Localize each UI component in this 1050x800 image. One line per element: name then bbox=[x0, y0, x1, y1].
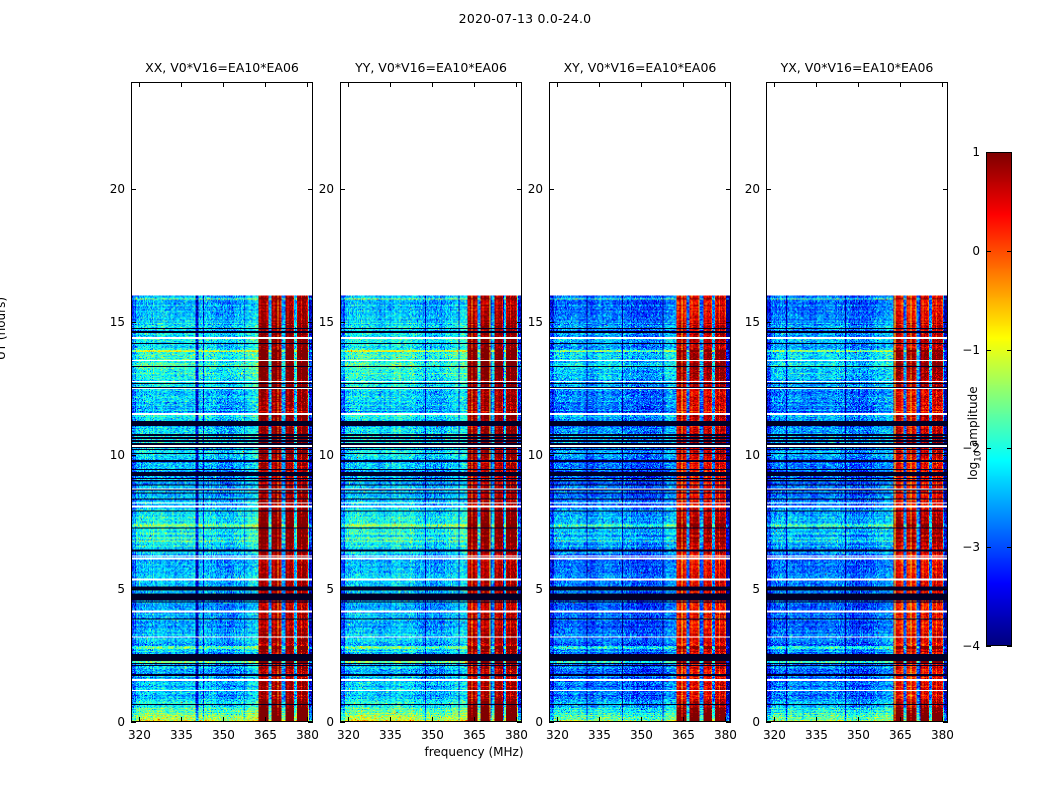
x-tick-label: 380 bbox=[496, 728, 536, 742]
y-tick-mark bbox=[340, 322, 345, 323]
x-tick-mark bbox=[942, 717, 943, 722]
x-tick-mark bbox=[139, 717, 140, 722]
x-tick-label: 320 bbox=[328, 728, 368, 742]
y-tick-label: 20 bbox=[304, 182, 334, 196]
figure-canvas: 2020-07-13 0.0-24.0 XX, V0*V16=EA10*EA06… bbox=[0, 0, 1050, 800]
x-tick-label: 335 bbox=[161, 728, 201, 742]
colorbar-tick-mark bbox=[986, 646, 991, 647]
y-tick-label: 0 bbox=[95, 715, 125, 729]
panel-yx[interactable] bbox=[766, 82, 948, 722]
x-tick-mark bbox=[432, 717, 433, 722]
colorbar-tick-mark bbox=[1007, 448, 1012, 449]
x-tick-mark bbox=[181, 82, 182, 87]
y-tick-mark bbox=[943, 455, 948, 456]
x-tick-label: 335 bbox=[370, 728, 410, 742]
x-tick-label: 365 bbox=[663, 728, 703, 742]
colorbar-tick-mark bbox=[986, 448, 991, 449]
y-tick-label: 5 bbox=[730, 582, 760, 596]
y-tick-mark bbox=[131, 722, 136, 723]
x-tick-mark bbox=[223, 82, 224, 87]
y-tick-label: 0 bbox=[730, 715, 760, 729]
colorbar-label: log10 amplitude bbox=[966, 386, 983, 480]
colorbar-tick-mark bbox=[986, 152, 991, 153]
x-tick-mark bbox=[942, 82, 943, 87]
x-tick-label: 335 bbox=[796, 728, 836, 742]
y-tick-mark bbox=[549, 455, 554, 456]
x-tick-label: 350 bbox=[412, 728, 452, 742]
figure-suptitle: 2020-07-13 0.0-24.0 bbox=[0, 11, 1050, 26]
x-tick-mark bbox=[432, 82, 433, 87]
x-tick-mark bbox=[683, 717, 684, 722]
y-tick-label: 10 bbox=[95, 448, 125, 462]
x-tick-label: 380 bbox=[287, 728, 327, 742]
y-tick-mark bbox=[766, 322, 771, 323]
x-tick-label: 365 bbox=[245, 728, 285, 742]
colorbar[interactable] bbox=[986, 152, 1012, 646]
y-tick-mark bbox=[943, 322, 948, 323]
y-tick-mark bbox=[131, 589, 136, 590]
x-tick-mark bbox=[641, 717, 642, 722]
y-tick-mark bbox=[340, 455, 345, 456]
colorbar-tick-mark bbox=[1007, 547, 1012, 548]
colorbar-tick-label: −1 bbox=[946, 343, 980, 357]
y-tick-mark bbox=[340, 189, 345, 190]
panel-title-xx: XX, V0*V16=EA10*EA06 bbox=[131, 60, 313, 76]
y-tick-label: 5 bbox=[95, 582, 125, 596]
x-tick-mark bbox=[816, 82, 817, 87]
x-tick-label: 320 bbox=[119, 728, 159, 742]
x-tick-label: 365 bbox=[454, 728, 494, 742]
x-tick-mark bbox=[390, 82, 391, 87]
panel-title-yy: YY, V0*V16=EA10*EA06 bbox=[340, 60, 522, 76]
y-tick-label: 10 bbox=[304, 448, 334, 462]
colorbar-tick-mark bbox=[1007, 646, 1012, 647]
y-tick-label: 20 bbox=[513, 182, 543, 196]
y-tick-mark bbox=[766, 455, 771, 456]
x-tick-label: 350 bbox=[621, 728, 661, 742]
x-tick-label: 320 bbox=[754, 728, 794, 742]
x-tick-mark bbox=[474, 717, 475, 722]
x-tick-mark bbox=[516, 82, 517, 87]
x-tick-label: 380 bbox=[705, 728, 745, 742]
x-tick-label: 380 bbox=[922, 728, 962, 742]
y-tick-label: 15 bbox=[513, 315, 543, 329]
panel-yy[interactable] bbox=[340, 82, 522, 722]
x-tick-label: 350 bbox=[838, 728, 878, 742]
waterfall-image-xx bbox=[132, 83, 312, 721]
x-tick-label: 350 bbox=[203, 728, 243, 742]
colorbar-tick-mark bbox=[986, 350, 991, 351]
y-tick-mark bbox=[549, 722, 554, 723]
y-tick-mark bbox=[943, 722, 948, 723]
colorbar-tick-mark bbox=[986, 547, 991, 548]
y-tick-mark bbox=[549, 589, 554, 590]
y-tick-label: 15 bbox=[304, 315, 334, 329]
x-tick-mark bbox=[599, 717, 600, 722]
y-tick-mark bbox=[340, 722, 345, 723]
x-tick-mark bbox=[900, 717, 901, 722]
y-tick-label: 20 bbox=[730, 182, 760, 196]
x-tick-mark bbox=[139, 82, 140, 87]
y-tick-mark bbox=[943, 189, 948, 190]
colorbar-tick-mark bbox=[1007, 350, 1012, 351]
x-tick-mark bbox=[474, 82, 475, 87]
y-tick-label: 5 bbox=[513, 582, 543, 596]
x-tick-mark bbox=[858, 82, 859, 87]
colorbar-tick-label: 1 bbox=[946, 145, 980, 159]
y-tick-label: 10 bbox=[513, 448, 543, 462]
colorbar-tick-mark bbox=[1007, 251, 1012, 252]
colorbar-tick-mark bbox=[986, 251, 991, 252]
y-tick-mark bbox=[340, 589, 345, 590]
x-tick-mark bbox=[348, 717, 349, 722]
y-tick-label: 20 bbox=[95, 182, 125, 196]
x-tick-mark bbox=[307, 82, 308, 87]
x-tick-mark bbox=[641, 82, 642, 87]
x-tick-mark bbox=[557, 717, 558, 722]
y-tick-label: 15 bbox=[730, 315, 760, 329]
x-tick-mark bbox=[774, 82, 775, 87]
y-axis-label: UT (hours) bbox=[0, 297, 8, 360]
y-tick-mark bbox=[131, 189, 136, 190]
panel-xy[interactable] bbox=[549, 82, 731, 722]
panel-xx[interactable] bbox=[131, 82, 313, 722]
x-tick-mark bbox=[265, 717, 266, 722]
y-tick-mark bbox=[766, 722, 771, 723]
y-tick-label: 10 bbox=[730, 448, 760, 462]
x-tick-mark bbox=[181, 717, 182, 722]
y-tick-mark bbox=[766, 189, 771, 190]
x-tick-label: 335 bbox=[579, 728, 619, 742]
colorbar-tick-mark bbox=[1007, 152, 1012, 153]
y-tick-label: 0 bbox=[513, 715, 543, 729]
x-tick-mark bbox=[599, 82, 600, 87]
x-tick-mark bbox=[390, 717, 391, 722]
x-tick-mark bbox=[557, 82, 558, 87]
x-tick-mark bbox=[683, 82, 684, 87]
y-tick-label: 5 bbox=[304, 582, 334, 596]
y-tick-label: 15 bbox=[95, 315, 125, 329]
colorbar-tick-label: 0 bbox=[946, 244, 980, 258]
y-tick-mark bbox=[131, 455, 136, 456]
y-tick-label: 0 bbox=[304, 715, 334, 729]
x-axis-label: frequency (MHz) bbox=[0, 745, 948, 759]
x-tick-mark bbox=[223, 717, 224, 722]
waterfall-image-xy bbox=[550, 83, 730, 721]
panel-title-yx: YX, V0*V16=EA10*EA06 bbox=[766, 60, 948, 76]
waterfall-image-yy bbox=[341, 83, 521, 721]
panel-title-xy: XY, V0*V16=EA10*EA06 bbox=[549, 60, 731, 76]
y-tick-mark bbox=[131, 322, 136, 323]
y-tick-mark bbox=[549, 189, 554, 190]
colorbar-tick-label: −4 bbox=[946, 639, 980, 653]
x-tick-mark bbox=[265, 82, 266, 87]
x-tick-mark bbox=[816, 717, 817, 722]
x-tick-mark bbox=[725, 717, 726, 722]
x-tick-mark bbox=[900, 82, 901, 87]
y-tick-mark bbox=[943, 589, 948, 590]
x-tick-mark bbox=[348, 82, 349, 87]
x-tick-mark bbox=[858, 717, 859, 722]
colorbar-tick-label: −3 bbox=[946, 540, 980, 554]
x-tick-label: 320 bbox=[537, 728, 577, 742]
waterfall-image-yx bbox=[767, 83, 947, 721]
x-tick-mark bbox=[725, 82, 726, 87]
y-tick-mark bbox=[766, 589, 771, 590]
y-tick-mark bbox=[549, 322, 554, 323]
x-tick-label: 365 bbox=[880, 728, 920, 742]
x-tick-mark bbox=[774, 717, 775, 722]
